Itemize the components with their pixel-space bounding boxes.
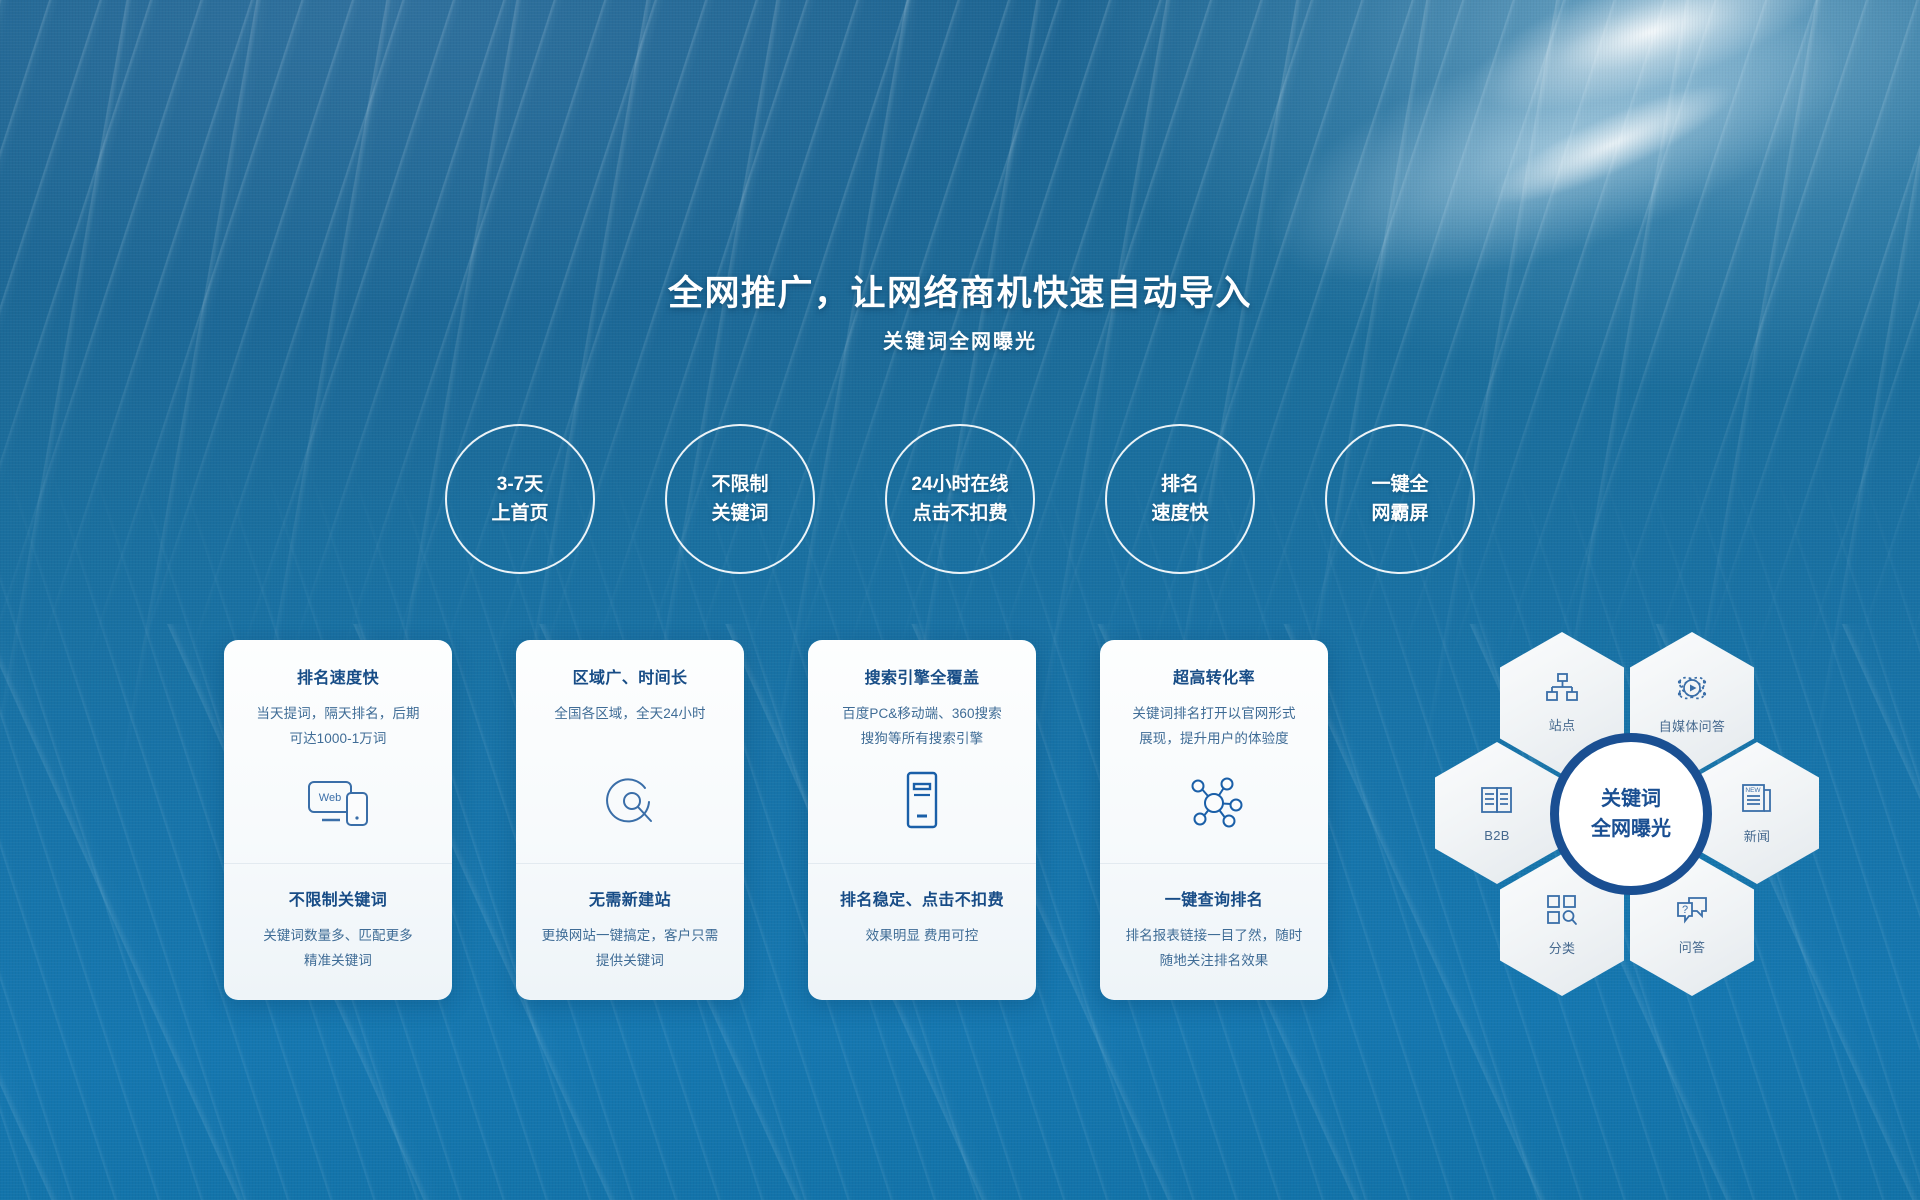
hex-center-line1: 关键词 bbox=[1601, 784, 1661, 814]
feature-card-2-top: 区域广、时间长 全国各区域，全天24小时 bbox=[516, 640, 744, 864]
network-nodes-icon bbox=[1181, 774, 1247, 837]
sitemap-icon bbox=[1545, 673, 1579, 708]
svg-text:?: ? bbox=[1682, 904, 1688, 916]
feature-card-3-top-desc: 百度PC&移动端、360搜索 搜狗等所有搜索引擎 bbox=[842, 702, 1002, 752]
feature-card-1-top-line2: 可达1000-1万词 bbox=[256, 727, 419, 752]
feature-card-1-bottom-line1: 关键词数量多、匹配更多 bbox=[263, 924, 413, 949]
feature-card-3-top-line2: 搜狗等所有搜索引擎 bbox=[842, 727, 1002, 752]
feature-circle-3-line2: 点击不扣费 bbox=[912, 499, 1007, 528]
page-subtitle: 关键词全网曝光 bbox=[0, 325, 1920, 354]
feature-circle-2-line2: 关键词 bbox=[711, 499, 768, 528]
feature-card-1-bottom-desc: 关键词数量多、匹配更多 精准关键词 bbox=[263, 924, 413, 974]
feature-circle-4-line2: 速度快 bbox=[1151, 499, 1208, 528]
hex-item-site-label: 站点 bbox=[1549, 715, 1576, 734]
feature-card-1-bottom-title: 不限制关键词 bbox=[289, 886, 387, 910]
feature-card-4-bottom: 一键查询排名 排名报表链接一目了然，随时 随地关注排名效果 bbox=[1100, 864, 1328, 1000]
feature-card-3-bottom-desc: 效果明显 费用可控 bbox=[866, 924, 979, 949]
feature-circle-5-line1: 一键全 bbox=[1371, 470, 1428, 499]
feature-card-2-bottom-line1: 更换网站一键搞定，客户只需 bbox=[542, 924, 719, 949]
feature-card-2-top-desc: 全国各区域，全天24小时 bbox=[554, 702, 705, 727]
hex-item-b2b[interactable]: B2B bbox=[1435, 742, 1559, 884]
category-grid-icon bbox=[1546, 894, 1578, 931]
feature-card-2-top-line1: 全国各区域，全天24小时 bbox=[554, 702, 705, 727]
feature-card-4-bottom-desc: 排名报表链接一目了然，随时 随地关注排名效果 bbox=[1126, 924, 1303, 974]
hex-item-self-media-label: 自媒体问答 bbox=[1659, 716, 1726, 735]
svg-text:NEW: NEW bbox=[1745, 787, 1761, 794]
feature-circle-1-line1: 3-7天 bbox=[497, 470, 543, 499]
feature-card-3-top: 搜索引擎全覆盖 百度PC&移动端、360搜索 搜狗等所有搜索引擎 bbox=[808, 640, 1036, 864]
hex-item-category-label: 分类 bbox=[1549, 938, 1576, 957]
feature-card-1-top-line1: 当天提词，隔天排名，后期 bbox=[256, 702, 419, 727]
feature-circle-3[interactable]: 24小时在线 点击不扣费 bbox=[885, 424, 1035, 574]
feature-card-2-bottom-title: 无需新建站 bbox=[589, 886, 671, 910]
feature-circle-1-line2: 上首页 bbox=[491, 499, 548, 528]
feature-circle-1[interactable]: 3-7天 上首页 bbox=[445, 424, 595, 574]
feature-circle-4[interactable]: 排名 速度快 bbox=[1105, 424, 1255, 574]
feature-card-1-bottom-line2: 精准关键词 bbox=[263, 949, 413, 974]
media-play-icon bbox=[1675, 672, 1709, 709]
feature-card-1[interactable]: 排名速度快 当天提词，隔天排名，后期 可达1000-1万词 Web 不限 bbox=[224, 640, 452, 1000]
feature-card-2-bottom: 无需新建站 更换网站一键搞定，客户只需 提供关键词 bbox=[516, 864, 744, 1000]
feature-card-4-top-line1: 关键词排名打开以官网形式 bbox=[1132, 702, 1295, 727]
feature-card-3-bottom-line1: 效果明显 费用可控 bbox=[866, 924, 979, 949]
feature-card-2-top-title: 区域广、时间长 bbox=[573, 664, 688, 688]
feature-card-row: 排名速度快 当天提词，隔天排名，后期 可达1000-1万词 Web 不限 bbox=[224, 640, 1328, 1000]
channel-hexagon-cluster: 站点 自媒体问答 bbox=[1380, 628, 1880, 1000]
question-chat-icon: ? bbox=[1675, 895, 1709, 930]
feature-card-4-bottom-line2: 随地关注排名效果 bbox=[1126, 949, 1303, 974]
feature-card-1-bottom: 不限制关键词 关键词数量多、匹配更多 精准关键词 bbox=[224, 864, 452, 1000]
feature-card-4-top-desc: 关键词排名打开以官网形式 展现，提升用户的体验度 bbox=[1132, 702, 1295, 752]
hex-item-b2b-label: B2B bbox=[1484, 828, 1509, 843]
feature-card-2[interactable]: 区域广、时间长 全国各区域，全天24小时 无需新建站 更换网站一键搞定，客户只需… bbox=[516, 640, 744, 1000]
feature-circle-2[interactable]: 不限制 关键词 bbox=[665, 424, 815, 574]
feature-card-4[interactable]: 超高转化率 关键词排名打开以官网形式 展现，提升用户的体验度 bbox=[1100, 640, 1328, 1000]
svg-text:Web: Web bbox=[319, 792, 341, 804]
feature-card-2-bottom-desc: 更换网站一键搞定，客户只需 提供关键词 bbox=[542, 924, 719, 974]
feature-card-3-bottom: 排名稳定、点击不扣费 效果明显 费用可控 bbox=[808, 864, 1036, 1000]
feature-card-3-bottom-title: 排名稳定、点击不扣费 bbox=[840, 886, 1004, 910]
feature-card-1-top: 排名速度快 当天提词，隔天排名，后期 可达1000-1万词 Web bbox=[224, 640, 452, 864]
hex-center-line2: 全网曝光 bbox=[1591, 814, 1671, 844]
feature-card-3[interactable]: 搜索引擎全覆盖 百度PC&移动端、360搜索 搜狗等所有搜索引擎 排名稳定、点击… bbox=[808, 640, 1036, 1000]
feature-circle-row: 3-7天 上首页 不限制 关键词 24小时在线 点击不扣费 排名 速度快 一键全… bbox=[445, 424, 1475, 574]
hex-item-news[interactable]: NEW 新闻 bbox=[1695, 742, 1819, 884]
feature-circle-5[interactable]: 一键全 网霸屏 bbox=[1325, 424, 1475, 574]
feature-card-1-top-title: 排名速度快 bbox=[297, 664, 379, 688]
mobile-screen-icon bbox=[899, 770, 945, 837]
feature-circle-5-line2: 网霸屏 bbox=[1371, 499, 1428, 528]
feature-card-4-bottom-title: 一键查询排名 bbox=[1165, 886, 1263, 910]
feature-card-4-top-line2: 展现，提升用户的体验度 bbox=[1132, 727, 1295, 752]
hex-item-news-label: 新闻 bbox=[1744, 826, 1771, 845]
web-device-icon: Web bbox=[303, 776, 373, 837]
feature-card-4-top: 超高转化率 关键词排名打开以官网形式 展现，提升用户的体验度 bbox=[1100, 640, 1328, 864]
hex-item-qa-label: 问答 bbox=[1679, 937, 1706, 956]
page-title: 全网推广，让网络商机快速自动导入 bbox=[0, 265, 1920, 316]
hex-center-badge: 关键词 全网曝光 bbox=[1550, 733, 1712, 895]
feature-card-2-bottom-line2: 提供关键词 bbox=[542, 949, 719, 974]
feature-card-4-bottom-line1: 排名报表链接一目了然，随时 bbox=[1126, 924, 1303, 949]
feature-card-3-top-title: 搜索引擎全覆盖 bbox=[865, 664, 980, 688]
feature-circle-4-line1: 排名 bbox=[1161, 470, 1199, 499]
search-magnifier-icon bbox=[599, 774, 661, 837]
feature-card-1-top-desc: 当天提词，隔天排名，后期 可达1000-1万词 bbox=[256, 702, 419, 752]
feature-circle-2-line1: 不限制 bbox=[711, 470, 768, 499]
page-content: 全网推广，让网络商机快速自动导入 关键词全网曝光 3-7天 上首页 不限制 关键… bbox=[0, 0, 1920, 1200]
documents-icon bbox=[1480, 784, 1514, 821]
newspaper-icon: NEW bbox=[1740, 782, 1774, 819]
feature-card-3-top-line1: 百度PC&移动端、360搜索 bbox=[842, 702, 1002, 727]
feature-circle-3-line1: 24小时在线 bbox=[911, 470, 1008, 499]
feature-card-4-top-title: 超高转化率 bbox=[1173, 664, 1255, 688]
